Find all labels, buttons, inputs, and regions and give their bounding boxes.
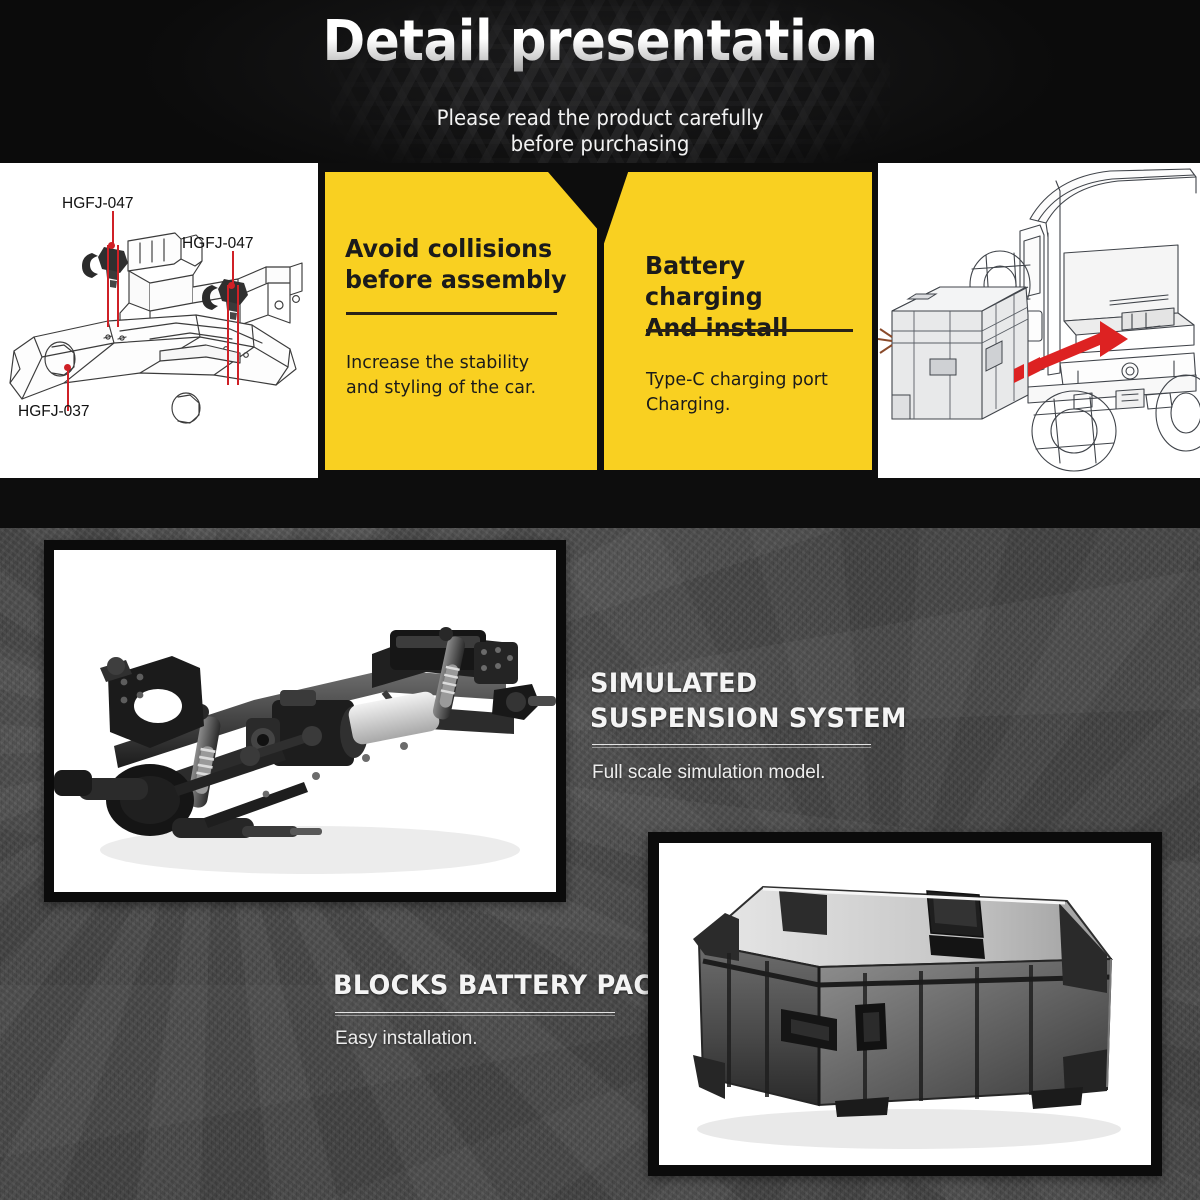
- feature-1-title-line-2: SUSPENSION SYSTEM: [590, 701, 907, 736]
- feature-1-title-line-1: SIMULATED: [590, 666, 907, 701]
- feature-2-body: Easy installation.: [335, 1028, 478, 1050]
- parts-diagram-panel: HGFJ-047 HGFJ-047 HGFJ-037: [0, 163, 318, 478]
- card1-title: Avoid collisions before assembly: [345, 233, 567, 295]
- leader-line-top-left: [107, 245, 109, 327]
- page-title: Detail presentation: [48, 8, 1152, 76]
- card2-title-line-2: And install: [645, 312, 861, 343]
- card1-body-line-1: Increase the stability: [346, 350, 536, 375]
- feature-1-body: Full scale simulation model.: [592, 762, 825, 784]
- part-label-hgfj-037: HGFJ-037: [18, 403, 90, 421]
- page-subtitle: Please read the product carefully before…: [36, 105, 1164, 157]
- part-label-hgfj-047-left: HGFJ-047: [62, 195, 134, 213]
- leader-line-top-right: [227, 285, 229, 385]
- page-header: Detail presentation Please read the prod…: [0, 0, 1200, 163]
- card2-divider: [646, 329, 853, 332]
- chassis-photo-frame: [44, 540, 566, 902]
- card1-divider: [346, 312, 557, 315]
- battery-box-photo-illustration: [659, 843, 1151, 1165]
- chassis-photo: [54, 550, 556, 892]
- leader-line-top-right-up: [232, 251, 234, 285]
- bumper-chassis-linedrawing: [0, 163, 318, 478]
- card1-title-line-1: Avoid collisions: [345, 233, 567, 264]
- feature-1-title: SIMULATED SUSPENSION SYSTEM: [590, 666, 907, 736]
- card2-body-line-2: Charging.: [646, 392, 828, 417]
- feature-2-title: BLOCKS BATTERY PACK: [333, 968, 673, 1003]
- part-label-hgfj-047-right: HGFJ-047: [182, 235, 254, 253]
- leader-line-top-right-2: [237, 285, 239, 385]
- card1-body: Increase the stability and styling of th…: [346, 350, 536, 400]
- truck-rear-linedrawing: [878, 163, 1200, 478]
- product-detail-page: Detail presentation Please read the prod…: [0, 0, 1200, 1200]
- feature-card-avoid-collisions: Avoid collisions before assembly Increas…: [325, 172, 597, 470]
- battery-photo-frame: [648, 832, 1162, 1176]
- card2-body: Type-C charging port Charging.: [646, 367, 828, 417]
- leader-line-top-left-up: [112, 211, 114, 245]
- leader-dot-bottom-left: [64, 364, 71, 371]
- battery-install-diagram-panel: [878, 163, 1200, 478]
- page-subtitle-line-2: before purchasing: [36, 131, 1164, 157]
- feature-2-title-line-1: BLOCKS BATTERY PACK: [333, 968, 673, 1003]
- feature-band: HGFJ-047 HGFJ-047 HGFJ-037 Avoid collisi…: [0, 163, 1200, 478]
- card2-body-line-1: Type-C charging port: [646, 367, 828, 392]
- card1-body-line-2: and styling of the car.: [346, 375, 536, 400]
- feature-1-divider: [592, 744, 871, 745]
- battery-box-illustration: [878, 287, 1028, 419]
- feature-card-battery-charging: Battery charging And install Type-C char…: [604, 172, 872, 470]
- card1-title-line-2: before assembly: [345, 264, 567, 295]
- rc-chassis-photo-illustration: [54, 550, 556, 892]
- battery-photo: [659, 843, 1151, 1165]
- page-subtitle-line-1: Please read the product carefully: [36, 105, 1164, 131]
- leader-line-top-left-2: [117, 245, 119, 327]
- feature-2-divider: [335, 1012, 615, 1013]
- card2-title-line-1: Battery charging: [645, 250, 861, 312]
- hook-part-left: [82, 247, 128, 288]
- features-section: SIMULATED SUSPENSION SYSTEM Full scale s…: [0, 528, 1200, 1200]
